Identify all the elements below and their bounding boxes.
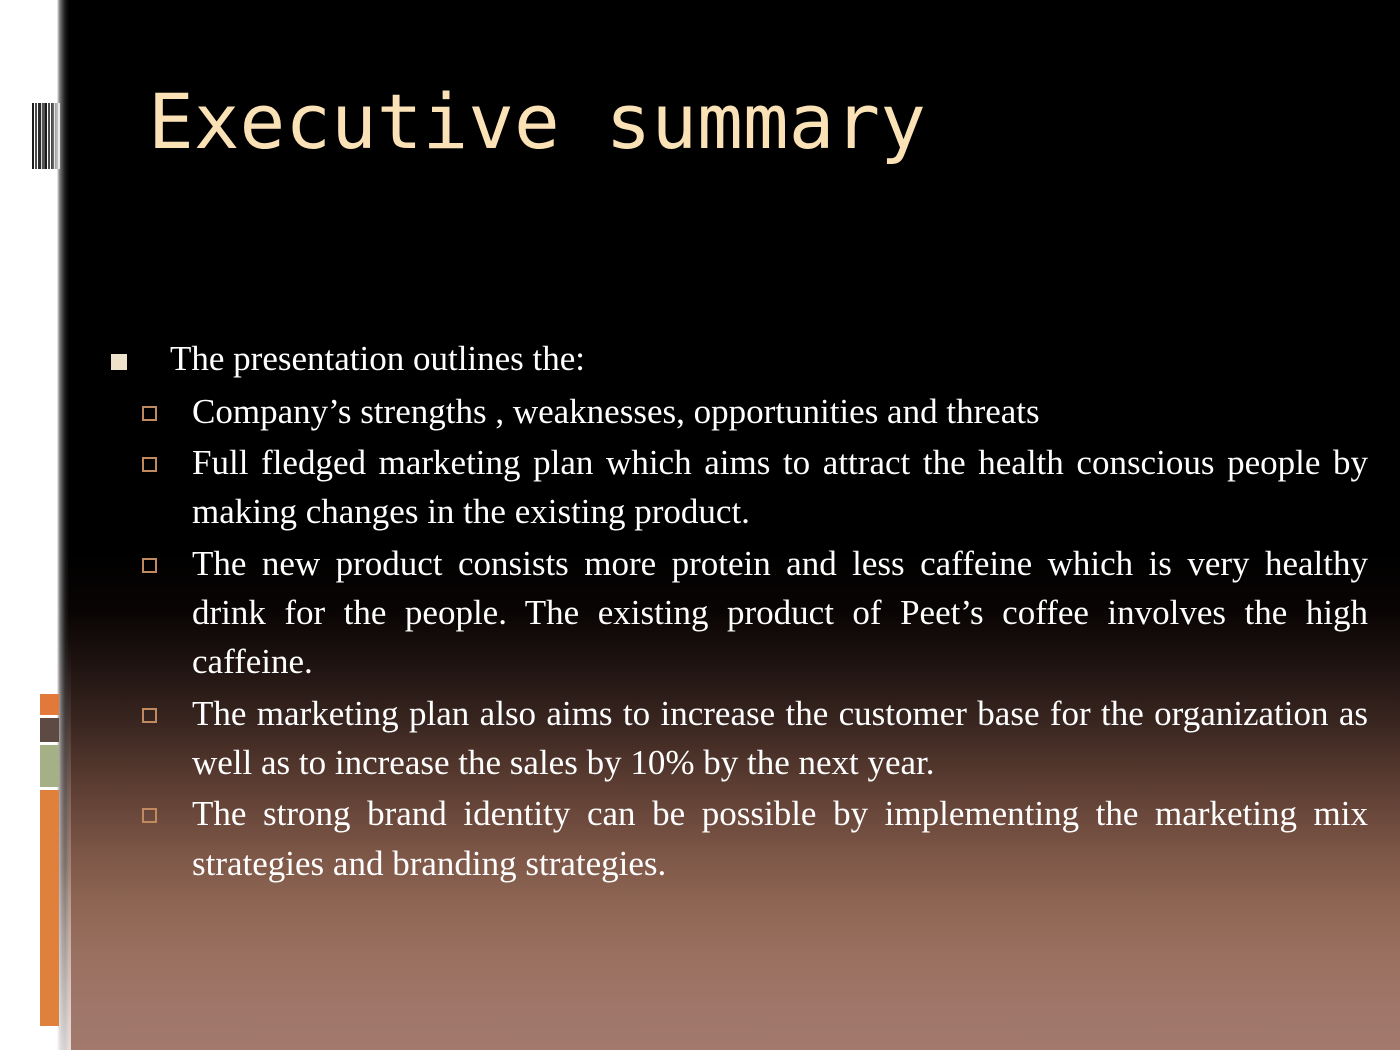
bullet-text: The new product consists more protein an… — [192, 539, 1368, 687]
hollow-square-bullet-icon — [142, 406, 157, 421]
bullet-item-level2: Company’s strengths , weaknesses, opport… — [108, 387, 1368, 436]
bullet-text: The presentation outlines the: — [170, 338, 1368, 381]
sidebar-chip-orange-top — [40, 694, 59, 715]
hollow-square-bullet-icon — [142, 457, 157, 472]
bullet-text: The strong brand identity can be possibl… — [192, 789, 1368, 888]
slide-body-content: The presentation outlines the: Company’s… — [108, 338, 1368, 890]
left-strip-bottom-fade — [57, 640, 71, 1050]
presentation-slide: Executive summary The presentation outli… — [0, 0, 1400, 1050]
sidebar-bar-orange-long — [40, 790, 59, 1026]
vertical-stripes-fade — [50, 103, 60, 169]
bullet-item-level2: Full fledged marketing plan which aims t… — [108, 438, 1368, 537]
hollow-square-bullet-icon — [142, 808, 157, 823]
bullet-text: Full fledged marketing plan which aims t… — [192, 438, 1368, 537]
bullet-text: Company’s strengths , weaknesses, opport… — [192, 387, 1368, 436]
bullet-text: The marketing plan also aims to increase… — [192, 689, 1368, 788]
bullet-item-level2: The marketing plan also aims to increase… — [108, 689, 1368, 788]
hollow-square-bullet-icon — [142, 708, 157, 723]
bullet-item-level2: The new product consists more protein an… — [108, 539, 1368, 687]
bullet-item-level2: The strong brand identity can be possibl… — [108, 789, 1368, 888]
sidebar-chip-brown — [40, 718, 59, 742]
square-bullet-icon — [111, 354, 127, 370]
sidebar-chip-green — [40, 745, 59, 787]
hollow-square-bullet-icon — [142, 558, 157, 573]
slide-title: Executive summary — [148, 82, 1298, 162]
bullet-item-level1: The presentation outlines the: — [108, 338, 1368, 381]
